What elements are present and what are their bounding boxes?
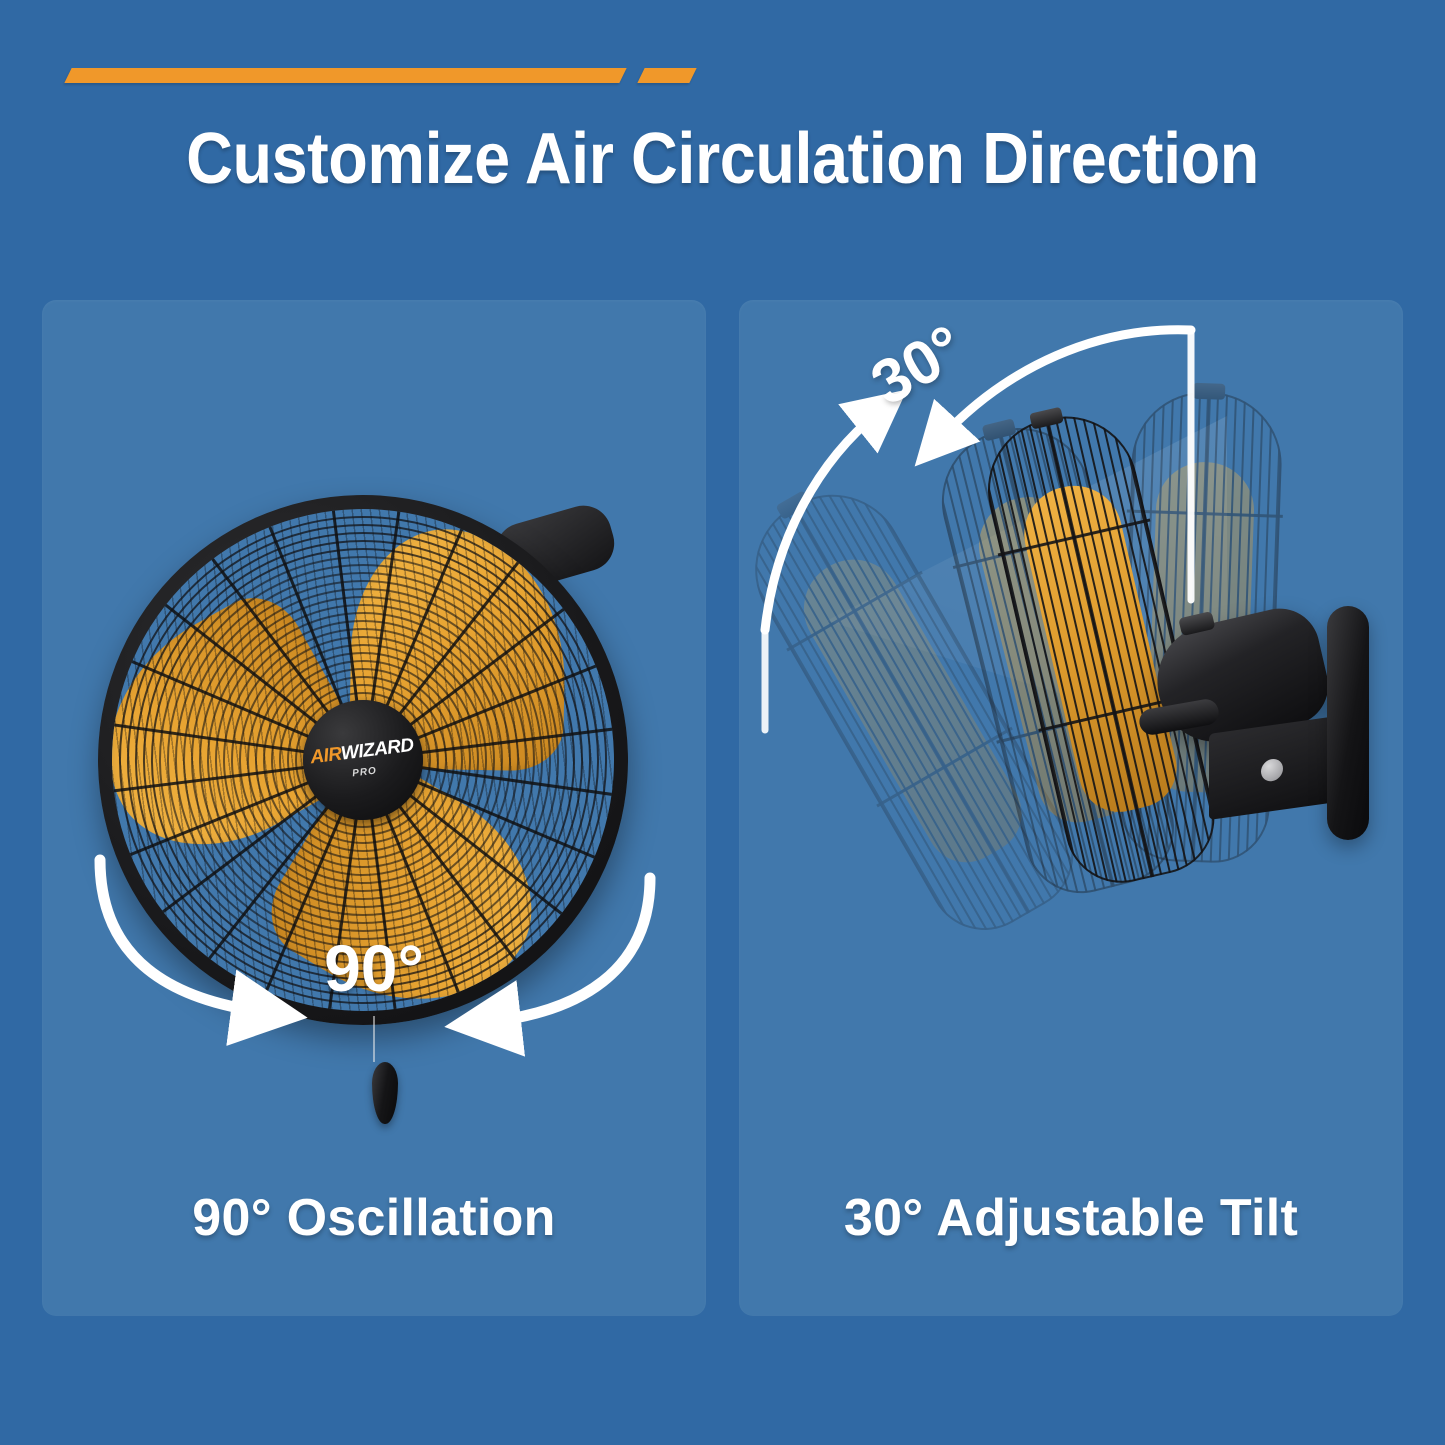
caption-tilt: 30° Adjustable Tilt [739,1188,1403,1248]
brand-logo-sub: PRO [352,765,378,779]
oscillation-stage: AIRWIZARD PRO 90° [42,300,706,1180]
brand-logo-air: AIR [309,744,342,769]
fan-cage-knob [1193,383,1226,400]
accent-bar-group [68,68,693,90]
panel-oscillation: AIRWIZARD PRO 90° 90° [42,300,706,1316]
header: Customize Air Circulation Direction [0,0,1445,240]
accent-bar-long [64,68,626,83]
page-title: Customize Air Circulation Direction [72,118,1373,200]
wall-mount-plate [1327,606,1369,840]
panel-tilt: 30° 30° Adjustable Tilt [739,300,1403,1316]
pull-chain-cord [373,1016,375,1062]
pull-chain[interactable] [372,1016,376,1124]
accent-bar-dash [637,68,696,83]
pull-chain-handle [372,1062,398,1124]
brand-logo-wizard: WIZARD [340,735,415,765]
fan-guard-inner: AIRWIZARD PRO [83,480,642,1039]
fan-front-view: AIRWIZARD PRO [98,495,628,1025]
caption-oscillation: 90° Oscillation [42,1188,706,1248]
bracket-screw [1261,758,1283,783]
tilt-angle-label: 30° [860,311,977,419]
tilt-stage: 30° [739,300,1403,1180]
brand-logo: AIRWIZARD [309,736,414,768]
